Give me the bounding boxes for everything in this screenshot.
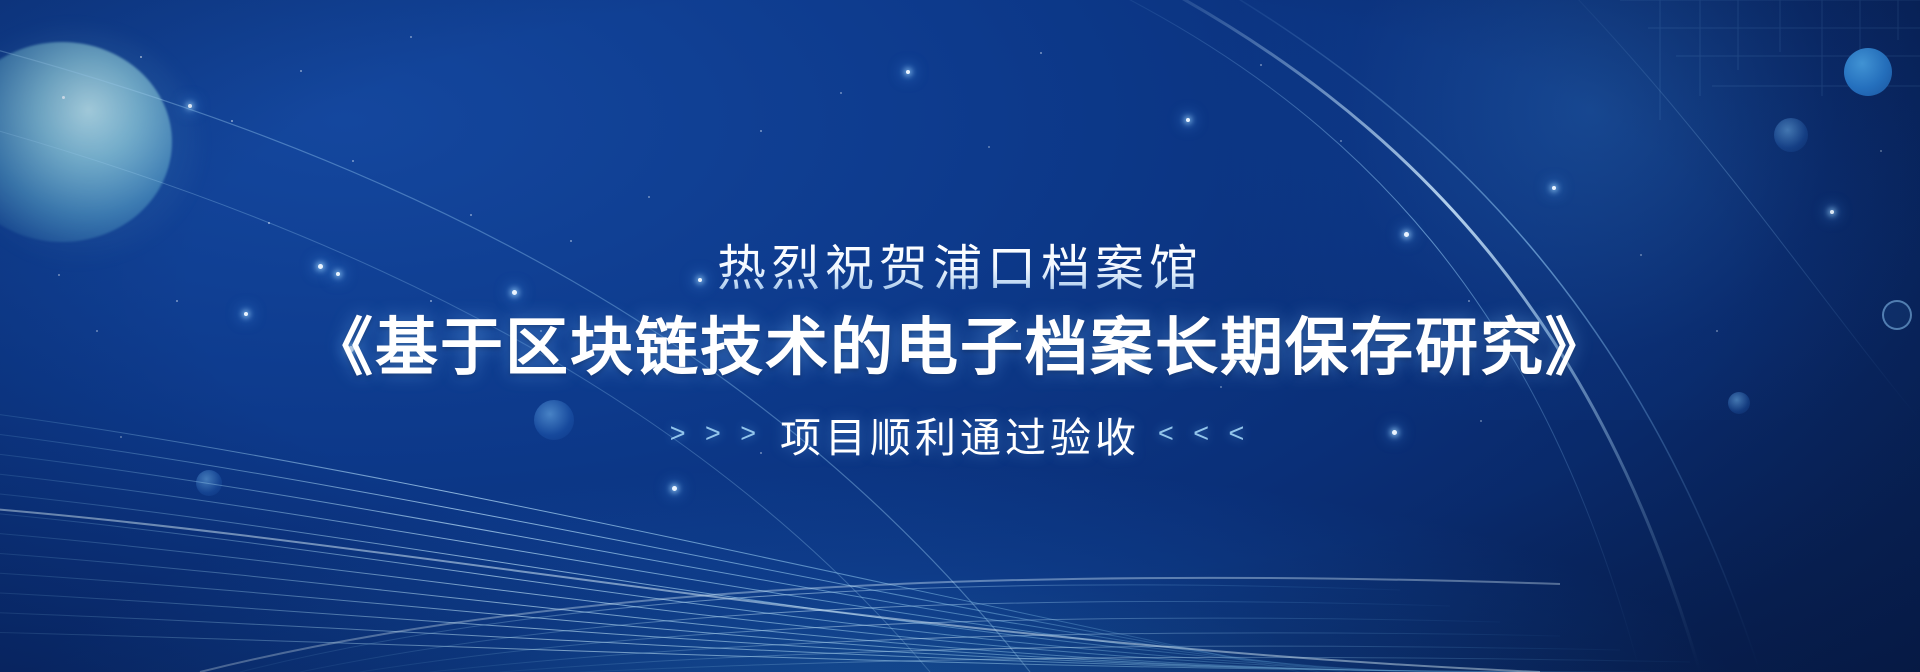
chevron-left-icon: < < <	[1158, 418, 1250, 449]
chevron-right-icon: > > >	[670, 418, 762, 449]
banner-project-title: 《基于区块链技术的电子档案长期保存研究》	[310, 311, 1610, 385]
banner-subline-row: > > > 项目顺利通过验收 < < <	[670, 404, 1251, 464]
celebration-banner: 热烈祝贺浦口档案馆 《基于区块链技术的电子档案长期保存研究》 > > > 项目顺…	[0, 0, 1920, 672]
banner-subline: 项目顺利通过验收	[780, 404, 1140, 464]
banner-text-block: 热烈祝贺浦口档案馆 《基于区块链技术的电子档案长期保存研究》 > > > 项目顺…	[0, 0, 1920, 672]
banner-headline: 热烈祝贺浦口档案馆	[717, 242, 1203, 297]
